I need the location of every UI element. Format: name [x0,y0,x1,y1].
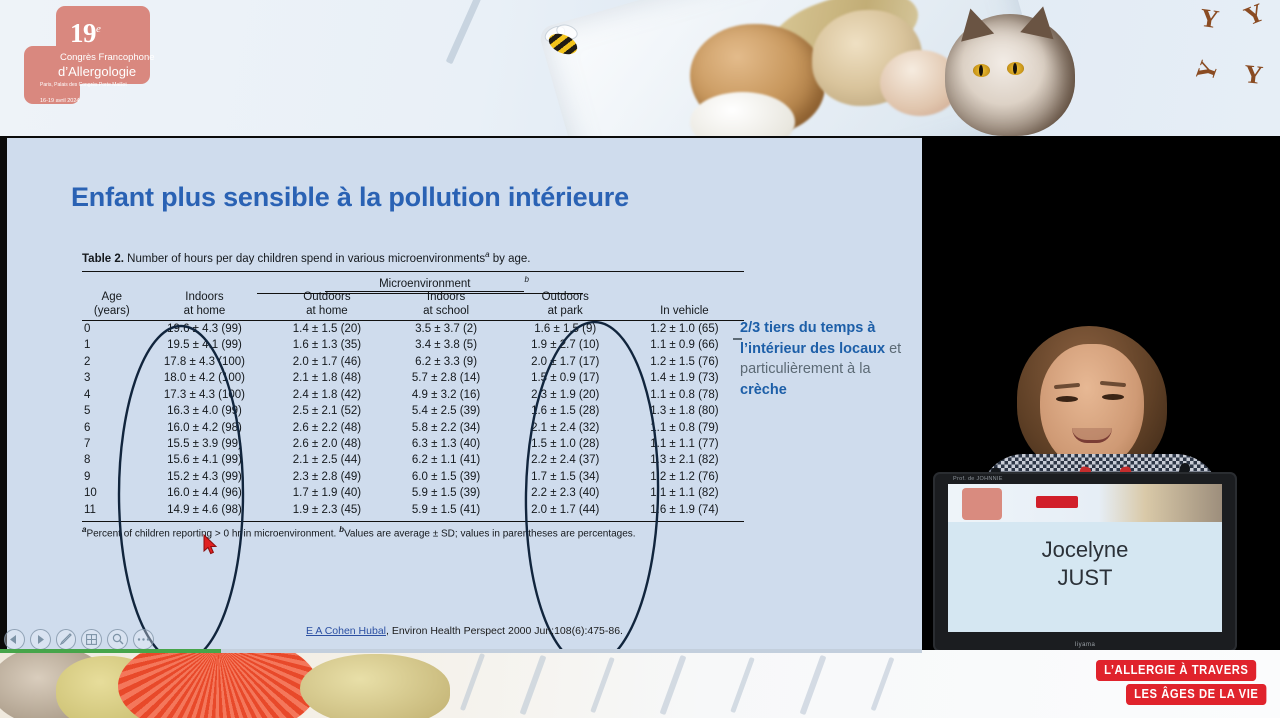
slide-viewport[interactable]: Enfant plus sensible à la pollution inté… [7,138,922,650]
cell-value: 1.2 ± 1.2 (76) [625,469,744,485]
chevron-right-icon [36,635,44,644]
antibody-icon: Y [1198,5,1220,33]
table-body: 019.6 ± 4.3 (99)1.4 ± 1.5 (20)3.5 ± 3.7 … [82,320,744,520]
cell-value: 1.5 ± 1.0 (28) [506,436,625,452]
bottom-banner: L’ALLERGIE À TRAVERS LES ÂGES DE LA VIE [0,650,1280,718]
cell-value: 5.7 ± 2.8 (14) [387,370,506,386]
table-row: 318.0 ± 4.2 (100)2.1 ± 1.8 (48)5.7 ± 2.8… [82,370,744,386]
magnifier-icon [112,633,124,645]
table-caption-text: Number of hours per day children spend i… [124,253,485,265]
cat-eye [1007,62,1024,75]
group-header-text: Microenvironment [325,278,524,292]
cell-value: 1.7 ± 1.5 (34) [506,469,625,485]
logo-line-allergologie: d’Allergologie [58,64,136,79]
cell-age: 3 [82,370,142,386]
podium-red-badge [1036,496,1078,508]
cell-value: 1.1 ± 1.1 (77) [625,436,744,452]
table-row: 915.2 ± 4.3 (99)2.3 ± 2.8 (49)6.0 ± 1.5 … [82,469,744,485]
banner-stripe [730,657,755,713]
cell-value: 16.0 ± 4.4 (96) [142,485,268,501]
speaker-eye [1056,396,1078,402]
table-header-row-bottom: (years) at home at home at school at par… [82,305,744,320]
banner-stripe [520,655,547,715]
table-row: 715.5 ± 3.9 (99)2.6 ± 2.0 (48)6.3 ± 1.3 … [82,436,744,452]
theme-line-1: L’ALLERGIE À TRAVERS [1096,660,1257,681]
previous-slide-button[interactable] [4,629,25,650]
cell-value: 1.6 ± 1.9 (74) [625,502,744,520]
cell-value: 2.0 ± 1.7 (44) [506,502,625,520]
monitor-brand: Iiyama [935,642,1235,648]
table-caption-tail: by age. [490,253,531,265]
table-row: 019.6 ± 4.3 (99)1.4 ± 1.5 (20)3.5 ± 3.7 … [82,320,744,337]
bee-icon [540,28,584,60]
speaker-face [1040,344,1144,470]
cell-value: 15.2 ± 4.3 (99) [142,469,268,485]
cell-value: 2.1 ± 1.8 (48) [267,370,386,386]
col-head-outdoors-home: at home [267,305,386,320]
cell-value: 5.8 ± 2.2 (34) [387,420,506,436]
podium-first-name: Jocelyne [948,536,1222,564]
cell-value: 2.6 ± 2.0 (48) [267,436,386,452]
table-footnotes: aPercent of children reporting > 0 hr in… [82,525,744,541]
cell-value: 4.9 ± 3.2 (16) [387,387,506,403]
cell-value: 1.1 ± 0.8 (79) [625,420,744,436]
cat-ear [1020,3,1059,39]
col-head-age-top: Age [82,291,142,305]
logo-line-congres: Congrès Francophone [60,52,155,63]
cell-age: 8 [82,452,142,468]
footnote-b-text: Values are average ± SD; values in paren… [344,529,636,540]
cell-value: 2.2 ± 2.4 (37) [506,452,625,468]
congress-logo: 19e Congrès Francophone d’Allergologie P… [18,6,150,114]
table-row: 616.0 ± 4.2 (98)2.6 ± 2.2 (48)5.8 ± 2.2 … [82,420,744,436]
cell-value: 1.9 ± 2.3 (45) [267,502,386,520]
cell-value: 16.0 ± 4.2 (98) [142,420,268,436]
cell-value: 18.0 ± 4.2 (100) [142,370,268,386]
banner-stripe [590,657,615,713]
cell-value: 1.2 ± 1.5 (76) [625,354,744,370]
cell-value: 5.4 ± 2.5 (39) [387,403,506,419]
banner-stripe [660,655,687,715]
cell-value: 6.2 ± 1.1 (41) [387,452,506,468]
slides-overview-button[interactable] [81,629,102,650]
col-head-in-vehicle-top [625,291,744,305]
table-group-header: Microenvironmentb [82,275,744,291]
cell-value: 19.5 ± 4.1 (99) [142,337,268,353]
col-head-indoors-home-top: Indoors [142,291,268,305]
slide-title: Enfant plus sensible à la pollution inté… [71,182,629,213]
grid-icon [86,634,97,645]
cell-value: 1.3 ± 2.1 (82) [625,452,744,468]
antibody-icon: Y [1243,61,1264,89]
cell-age: 0 [82,320,142,337]
podium-monitor-label: Prof. de JOHNNIE [953,476,1003,482]
cell-value: 2.4 ± 1.8 (42) [267,387,386,403]
antibody-icon: Y [1192,58,1223,85]
table-row: 417.3 ± 4.3 (100)2.4 ± 1.8 (42)4.9 ± 3.2… [82,387,744,403]
cell-value: 2.2 ± 2.3 (40) [506,485,625,501]
table-figure: Table 2. Number of hours per day childre… [82,250,744,541]
cell-value: 2.1 ± 2.4 (32) [506,420,625,436]
cell-age: 5 [82,403,142,419]
playback-progress-fill [0,649,221,653]
podium-speaker-name: Jocelyne JUST [948,536,1222,591]
table-row: 815.6 ± 4.1 (99)2.1 ± 2.5 (44)6.2 ± 1.1 … [82,452,744,468]
cell-value: 1.1 ± 1.1 (82) [625,485,744,501]
cell-age: 2 [82,354,142,370]
ellipsis-icon [137,637,150,642]
table-row: 217.8 ± 4.3 (100)2.0 ± 1.7 (46)6.2 ± 3.3… [82,354,744,370]
cell-value: 14.9 ± 4.6 (98) [142,502,268,520]
playback-progress-bar[interactable] [0,649,922,653]
table-row: 119.5 ± 4.1 (99)1.6 ± 1.3 (35)3.4 ± 3.8 … [82,337,744,353]
col-head-outdoors-park: at park [506,305,625,320]
cell-value: 2.6 ± 2.2 (48) [267,420,386,436]
cell-value: 1.6 ± 1.5 (28) [506,403,625,419]
table-caption-label: Table 2. [82,253,124,265]
microenvironment-table: Age Indoors Outdoors Indoors Outdoors (y… [82,291,744,520]
antibody-icon: Y [1241,0,1268,31]
fruit-icon [300,654,450,718]
cell-age: 7 [82,436,142,452]
cell-value: 6.3 ± 1.3 (40) [387,436,506,452]
col-head-in-vehicle: In vehicle [625,305,744,320]
cat-icon [945,14,1075,136]
podium-monitor: Prof. de JOHNNIE Jocelyne JUST Iiyama [935,474,1235,650]
cell-value: 2.0 ± 1.7 (46) [267,354,386,370]
cell-value: 1.1 ± 0.9 (66) [625,337,744,353]
logo-dates: 16-19 avril 2024 [40,98,79,104]
citation-rest: , Environ Health Perspect 2000 Jun;108(6… [386,625,623,637]
pen-annotation-button[interactable] [56,629,77,650]
table-row: 516.3 ± 4.0 (99)2.5 ± 2.1 (52)5.4 ± 2.5 … [82,403,744,419]
cell-value: 5.9 ± 1.5 (41) [387,502,506,520]
cell-age: 10 [82,485,142,501]
cell-value: 3.5 ± 3.7 (2) [387,320,506,337]
banner-stripe [800,655,827,715]
podium-screen-banner [948,484,1222,522]
podium-congress-logo [962,488,1002,520]
cell-value: 2.1 ± 2.5 (44) [267,452,386,468]
col-head-indoors-home: at home [142,305,268,320]
presentation-controls[interactable] [4,628,154,650]
annotation-highlight-2: crèche [740,382,787,398]
slide-annotation: 2/3 tiers du temps à l’intérieur des loc… [740,318,920,400]
event-theme-banner: L’ALLERGIE À TRAVERS LES ÂGES DE LA VIE [1084,658,1274,710]
logo-edition: 19e [70,18,100,49]
cell-value: 17.3 ± 4.3 (100) [142,387,268,403]
annotation-highlight-1: 2/3 tiers du temps à l’intérieur des loc… [740,320,885,357]
table-bottom-rule [82,521,744,522]
cell-value: 5.9 ± 1.5 (39) [387,485,506,501]
next-slide-button[interactable] [30,629,51,650]
pen-icon [60,633,72,645]
cell-value: 1.5 ± 0.9 (17) [506,370,625,386]
theme-line-2: LES ÂGES DE LA VIE [1126,684,1267,705]
cell-age: 6 [82,420,142,436]
cell-value: 2.3 ± 1.9 (20) [506,387,625,403]
cell-value: 1.4 ± 1.9 (73) [625,370,744,386]
cell-value: 2.5 ± 2.1 (52) [267,403,386,419]
cell-value: 1.6 ± 1.3 (35) [267,337,386,353]
chevron-left-icon [10,635,18,644]
cell-value: 1.7 ± 1.9 (40) [267,485,386,501]
cell-age: 9 [82,469,142,485]
banner-stripe [460,653,485,711]
table-row: 1016.0 ± 4.4 (96)1.7 ± 1.9 (40)5.9 ± 1.5… [82,485,744,501]
group-header-sup: b [524,275,528,284]
cell-value: 15.6 ± 4.1 (99) [142,452,268,468]
cell-value: 19.6 ± 4.3 (99) [142,320,268,337]
cell-value: 2.0 ± 1.7 (17) [506,354,625,370]
cell-value: 1.4 ± 1.5 (20) [267,320,386,337]
cell-value: 6.0 ± 1.5 (39) [387,469,506,485]
podium-screen: Jocelyne JUST [948,484,1222,632]
cell-value: 15.5 ± 3.9 (99) [142,436,268,452]
banner-stripe [871,657,895,711]
cell-age: 4 [82,387,142,403]
cell-value: 3.4 ± 3.8 (5) [387,337,506,353]
citation-link[interactable]: E A Cohen Hubal [306,625,386,637]
speaker-eye [1102,394,1124,400]
podium-last-name: JUST [948,564,1222,592]
cell-value: 17.8 ± 4.3 (100) [142,354,268,370]
table-row: 1114.9 ± 4.6 (98)1.9 ± 2.3 (45)5.9 ± 1.5… [82,502,744,520]
shellfish-icon [118,650,318,718]
cell-value: 1.2 ± 1.0 (65) [625,320,744,337]
col-head-age: (years) [82,305,142,320]
cat-eye [973,64,990,77]
top-banner: Y Y Y Y 19e Congrès Francophone d’Allerg… [0,0,1280,136]
cell-value: 1.9 ± 2.7 (10) [506,337,625,353]
cat-ear [954,4,994,41]
cell-value: 16.3 ± 4.0 (99) [142,403,268,419]
zoom-button[interactable] [107,629,128,650]
col-head-indoors-school: at school [387,305,506,320]
cell-value: 1.3 ± 1.8 (80) [625,403,744,419]
cell-age: 11 [82,502,142,520]
table-caption: Table 2. Number of hours per day childre… [82,250,744,272]
logo-venue: Paris, Palais des Congrès Porte Maillot [40,82,127,89]
more-options-button[interactable] [133,629,154,650]
cell-value: 6.2 ± 3.3 (9) [387,354,506,370]
cell-age: 1 [82,337,142,353]
cell-value: 1.6 ± 1.5 (9) [506,320,625,337]
cell-value: 1.1 ± 0.8 (78) [625,387,744,403]
banner-stripe [446,0,482,64]
cell-value: 2.3 ± 2.8 (49) [267,469,386,485]
